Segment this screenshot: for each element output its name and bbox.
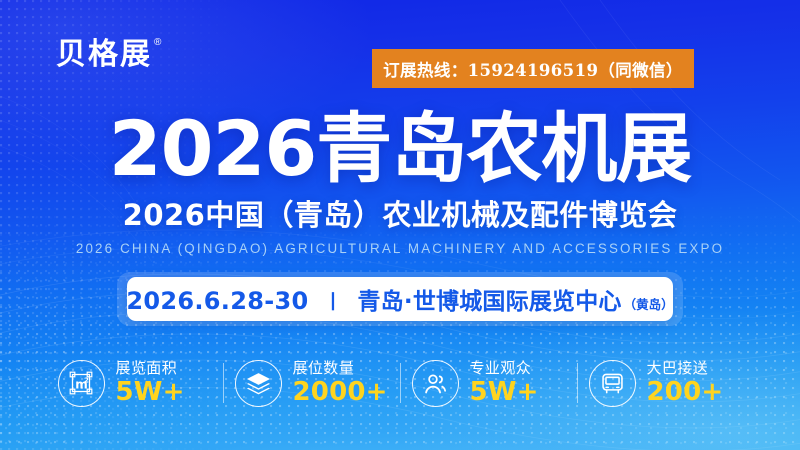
stat-item-shuttle-bus: 大巴接送 200+: [589, 360, 743, 407]
main-title: 2026青岛农机展: [0, 112, 800, 186]
stat-value: 5W+: [116, 378, 185, 406]
subtitle-chinese: 2026中国（青岛）农业机械及配件博览会: [0, 192, 800, 234]
stats-divider: [400, 363, 401, 403]
brand-logo-text: 贝格展: [56, 40, 152, 70]
registered-trademark-icon: ®: [154, 38, 161, 48]
stat-item-exhibition-area: m 2 展览面积 5W+: [58, 360, 212, 407]
event-venue-note: （黄岛）: [624, 294, 674, 313]
stats-row: m 2 展览面积 5W+ 展位数量 2000+: [0, 352, 800, 414]
stat-item-booth-count: 展位数量 2000+: [235, 360, 389, 407]
area-square-meter-icon: m 2: [58, 360, 105, 407]
subtitle-english: 2026 CHINA (QINGDAO) AGRICULTURAL MACHIN…: [0, 241, 800, 256]
stats-divider: [223, 363, 224, 403]
brand-logo[interactable]: 贝格展 ®: [56, 40, 161, 70]
stat-value: 200+: [647, 378, 724, 406]
hotline-badge[interactable]: 订展热线：15924196519（同微信）: [372, 49, 694, 88]
event-date: 2026.6.28-30: [126, 287, 308, 315]
stat-label: 大巴接送: [647, 360, 724, 377]
title-block: 2026青岛农机展 2026中国（青岛）农业机械及配件博览会 2026 CHIN…: [0, 112, 800, 256]
layers-stack-icon: [235, 360, 282, 407]
date-venue-bar: 2026.6.28-30 丨 青岛·世博城国际展览中心 （黄岛）: [127, 277, 673, 321]
hotline-text: 订展热线：15924196519（同微信）: [383, 57, 683, 81]
stat-label: 展位数量: [293, 360, 388, 377]
stat-label: 专业观众: [470, 360, 539, 377]
stat-item-professional-visitors: 专业观众 5W+: [412, 360, 566, 407]
stat-label: 展览面积: [116, 360, 185, 377]
date-venue-separator: 丨: [323, 287, 342, 314]
people-group-icon: [412, 360, 459, 407]
stats-divider: [577, 363, 578, 403]
bus-icon: [589, 360, 636, 407]
date-venue-bar-wrapper: 2026.6.28-30 丨 青岛·世博城国际展览中心 （黄岛）: [0, 277, 800, 321]
event-venue: 青岛·世博城国际展览中心: [357, 282, 621, 316]
svg-text:2: 2: [84, 376, 89, 384]
stat-value: 5W+: [470, 378, 539, 406]
expo-banner: 贝格展 ® 订展热线：15924196519（同微信） 2026青岛农机展 20…: [0, 0, 800, 450]
stat-value: 2000+: [293, 378, 388, 406]
